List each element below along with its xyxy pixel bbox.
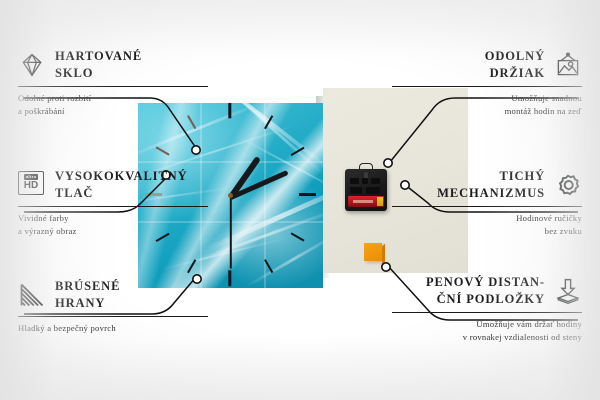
feature-desc-line-2: montáž hodin na zeď [392,105,582,117]
feature-desc-line-2: a výrazný obraz [18,225,208,237]
hour-marker [290,232,304,242]
divider [18,86,208,87]
hour-marker [229,270,232,286]
hour-marker [187,115,197,129]
feature-title-line-2: HRANY [55,295,120,312]
divider [18,316,208,317]
press-pad-icon [554,277,582,305]
divider [18,206,208,207]
feature-desc-line-1: Hodinové ručičky [392,212,582,224]
feature-desc-line-1: Hladký a bezpečný povrch [18,322,208,334]
divider [392,86,582,87]
feature-title-line-1: BRÚSENÉ [55,278,120,295]
feature-high-quality-print: ultra HD VYSOKOKVALITNÝ TLAČ Vividné far… [18,168,208,237]
feature-title-line-2: ČNÍ PODLOŽKY [426,291,545,308]
feature-title-line-2: SKLO [55,65,142,82]
infographic-canvas: HARTOVANÉ SKLO Odolné proti rozbití a po… [0,0,600,400]
feature-title-line-1: HARTOVANÉ [55,48,142,65]
ultra-hd-icon: ultra HD [18,171,46,199]
hanger-tab [359,163,373,170]
feature-title-line-1: TICHÝ [437,168,545,185]
feature-desc-line-1: Vividné farby [18,212,208,224]
battery-positive-terminal [377,197,383,206]
hatched-triangle-icon [18,281,46,309]
feature-desc-line-2: v rovnakej vzdialenosti od steny [392,331,582,343]
feature-title-line-1: PENOVÝ DISTAN- [426,274,545,291]
feature-title-line-2: DRŽIAK [485,65,545,82]
feature-title-line-2: MECHANIZMUS [437,185,545,202]
feature-ground-edges: BRÚSENÉ HRANY Hladký a bezpečný povrch [18,278,208,335]
feature-tempered-glass: HARTOVANÉ SKLO Odolné proti rozbití a po… [18,48,208,117]
picture-hanger-icon [554,51,582,79]
feature-silent-mechanism: TICHÝ MECHANIZMUS Hodinové ručičky bez z… [392,168,582,237]
battery [348,196,384,207]
hour-marker [155,146,169,156]
feature-desc-line-2: a poškrábání [18,105,208,117]
hour-marker [299,193,316,196]
feature-title-line-1: VYSOKOKVALITNÝ [55,168,188,185]
feature-desc-line-1: Umožňuje snadnou [392,92,582,104]
diamond-icon [18,51,46,79]
feature-durable-holder: ODOLNÝ DRŽIAK Umožňuje snadnou montáž ho… [392,48,582,117]
foam-spacer-pad [364,243,382,261]
feature-desc-line-1: Odolné proti rozbití [18,92,208,104]
divider [392,206,582,207]
divider [392,312,582,313]
gear-icon [554,171,582,199]
feature-foam-spacers: PENOVÝ DISTAN- ČNÍ PODLOŽKY Umožňuje vám… [392,274,582,343]
feature-desc-line-2: bez zvuku [392,225,582,237]
feature-desc-line-1: Umožňuje vám držať hodiny [392,318,582,330]
hands-center-cap [228,193,233,198]
hour-marker [229,103,232,118]
clock-mechanism [345,169,387,211]
second-hand [230,196,232,268]
feature-title-line-1: ODOLNÝ [485,48,545,65]
feature-title-line-2: TLAČ [55,185,188,202]
